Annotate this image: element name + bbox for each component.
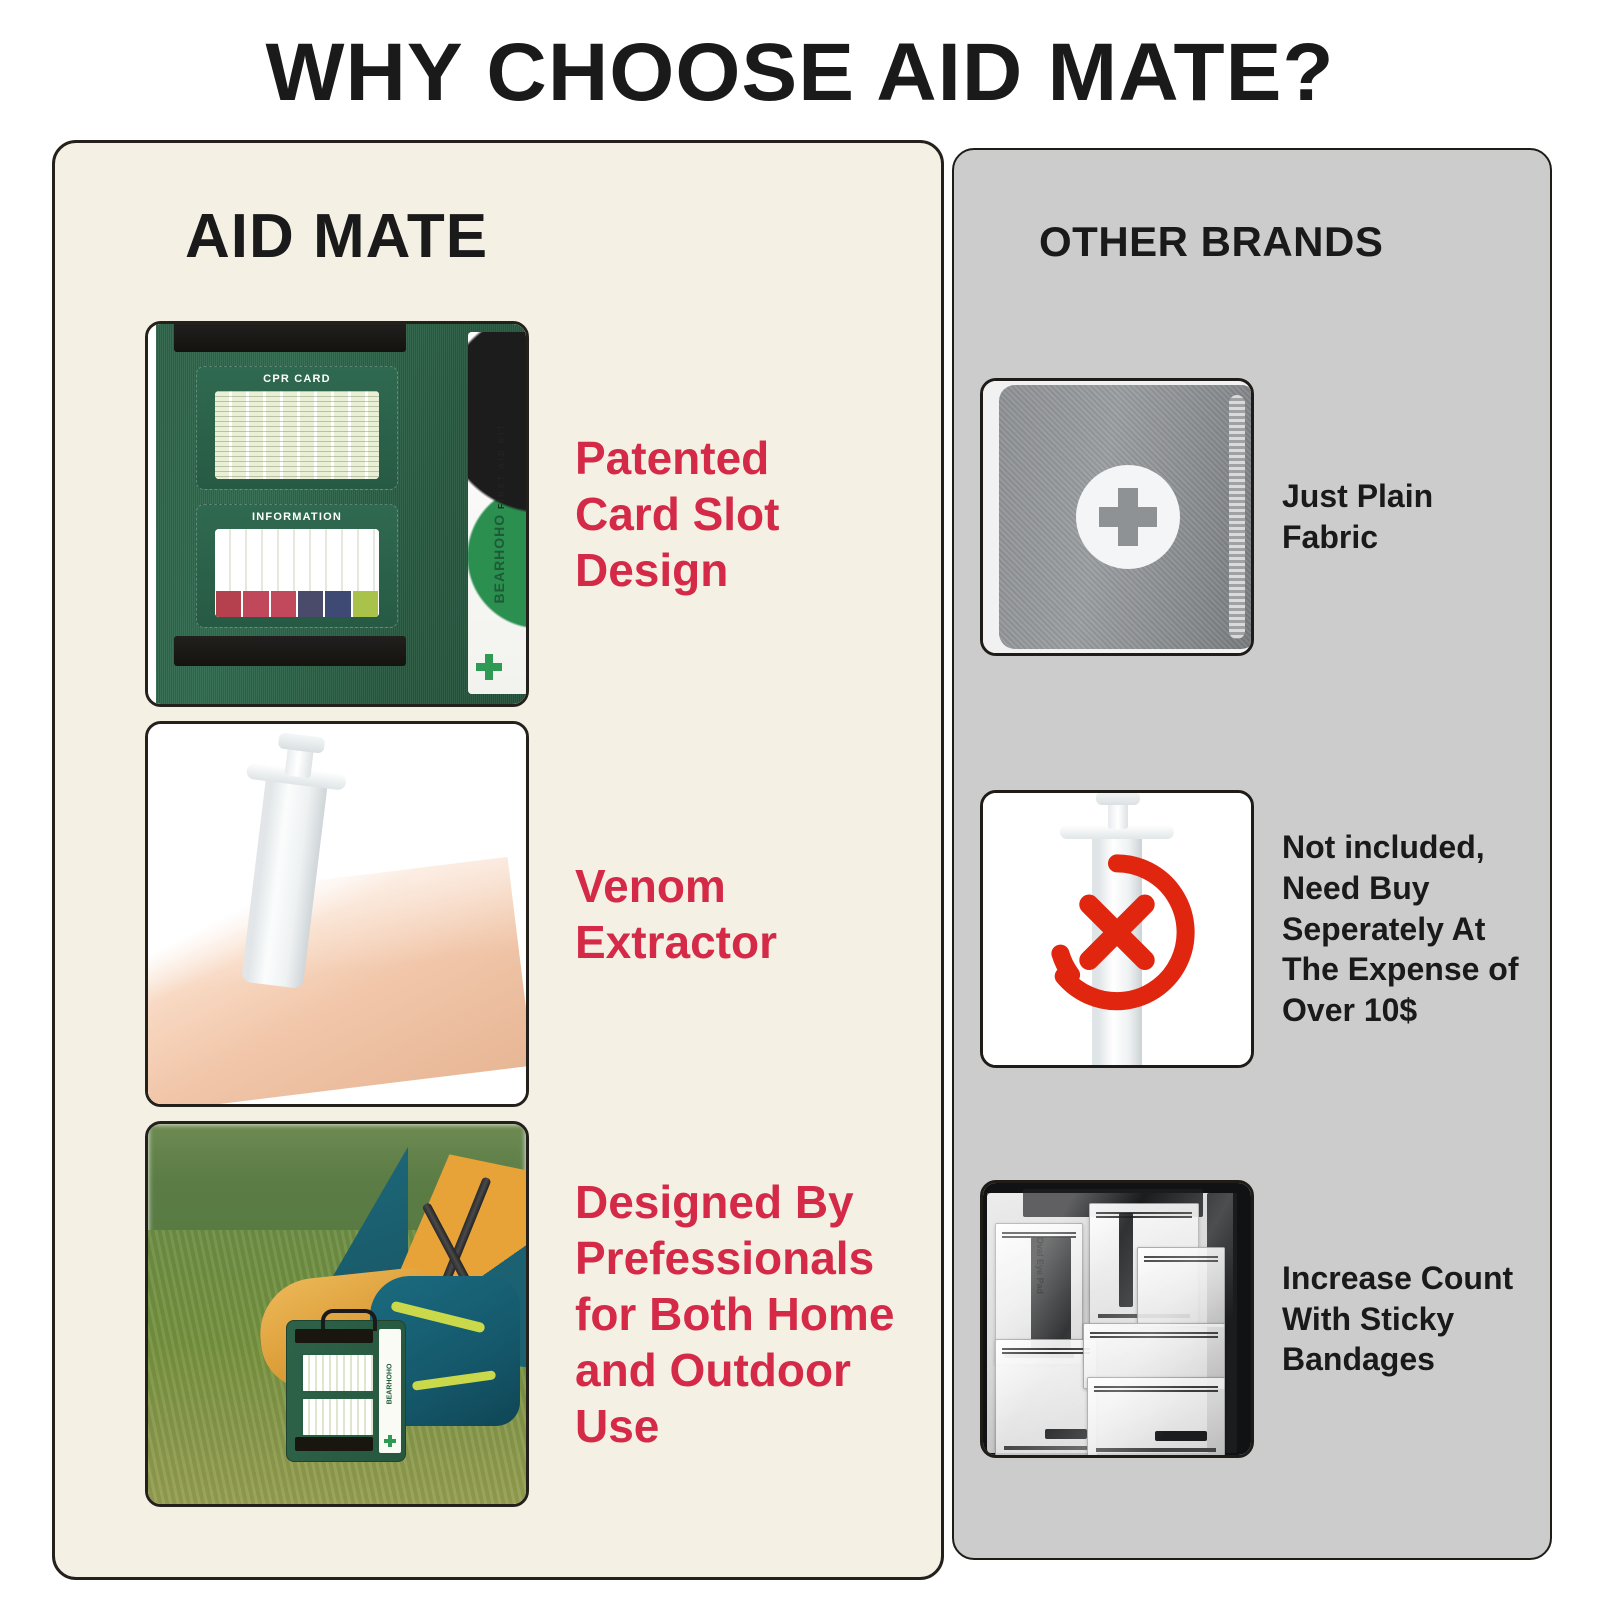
red-prohibition-x-icon [1035, 850, 1199, 1014]
plain-case-illustration [983, 381, 1251, 653]
plain-gray-fabric-case-photo [980, 378, 1254, 656]
camping-scene-with-kit-photo: BEARHOHO [145, 1121, 529, 1507]
green-cross-icon [476, 654, 502, 680]
zipper-icon [1229, 395, 1245, 639]
information-label: INFORMATION [197, 511, 397, 523]
aid-mate-heading: AID MATE [185, 201, 488, 272]
forearm-skin [145, 857, 529, 1107]
aid-mate-label-designed-by-pros: Designed By Prefessionals for Both Home … [575, 1174, 941, 1455]
other-brands-label-extractor: Not included, Need Buy Seperately At The… [1282, 827, 1519, 1032]
other-brands-panel: OTHER BRANDS Just Plain Fabric [952, 148, 1552, 1560]
venom-extractor-on-arm-photo [145, 721, 529, 1107]
other-brands-heading: OTHER BRANDS [1039, 218, 1383, 266]
green-first-aid-kit-card-slots-photo: CPR CARD INFORMATION [145, 321, 529, 707]
cpr-card-slot: CPR CARD [196, 366, 398, 490]
aid-mate-row-card-slot: CPR CARD INFORMATION [145, 321, 779, 707]
kit-brand-spine: BEARHOHO FIRST AID KIT [468, 332, 529, 694]
extractor-illustration [148, 724, 526, 1104]
page-title: WHY CHOOSE AID MATE? [0, 26, 1600, 120]
other-brands-row-fabric: Just Plain Fabric [980, 378, 1433, 656]
brand-name: BEARHOHO [387, 1363, 394, 1404]
crossed-out-extractor-illustration [983, 793, 1251, 1065]
cpr-card-label: CPR CARD [197, 373, 397, 385]
supply-item-label: Oval Eye Pad [1035, 1237, 1045, 1294]
packed-bandage-supplies-photo: Oval Eye Pad [980, 1180, 1254, 1458]
aid-mate-panel: AID MATE CPR CARD INFORMATION [52, 140, 944, 1580]
brand-tagline: FIRST AID KIT [497, 423, 506, 509]
green-cross-icon [384, 1435, 396, 1447]
green-first-aid-kit: BEARHOHO [286, 1320, 406, 1462]
medical-cross-emblem-icon [1076, 465, 1180, 569]
camping-illustration: BEARHOHO [148, 1124, 526, 1504]
supplies-illustration: Oval Eye Pad [983, 1183, 1251, 1455]
information-slot: INFORMATION [196, 504, 398, 628]
aid-mate-label-card-slot: Patented Card Slot Design [575, 430, 779, 598]
case-body [999, 385, 1254, 649]
aid-mate-row-designed-by-pros: BEARHOHO Designed By Prefessionals for B… [145, 1121, 941, 1507]
aid-mate-row-venom-extractor: Venom Extractor [145, 721, 777, 1107]
kit-closeup-illustration: CPR CARD INFORMATION [148, 324, 526, 704]
kit-handle-icon [321, 1309, 377, 1331]
syringe-with-red-x-crossed-out [980, 790, 1254, 1068]
aid-mate-label-venom-extractor: Venom Extractor [575, 858, 777, 970]
other-brands-row-extractor: Not included, Need Buy Seperately At The… [980, 790, 1519, 1068]
other-brands-label-bandages: Increase Count With Sticky Bandages [1282, 1258, 1513, 1381]
brand-name: BEARHOHO [491, 514, 507, 604]
other-brands-label-fabric: Just Plain Fabric [1282, 476, 1433, 558]
other-brands-row-bandages: Oval Eye Pad Increase Count With Sticky … [980, 1180, 1513, 1458]
